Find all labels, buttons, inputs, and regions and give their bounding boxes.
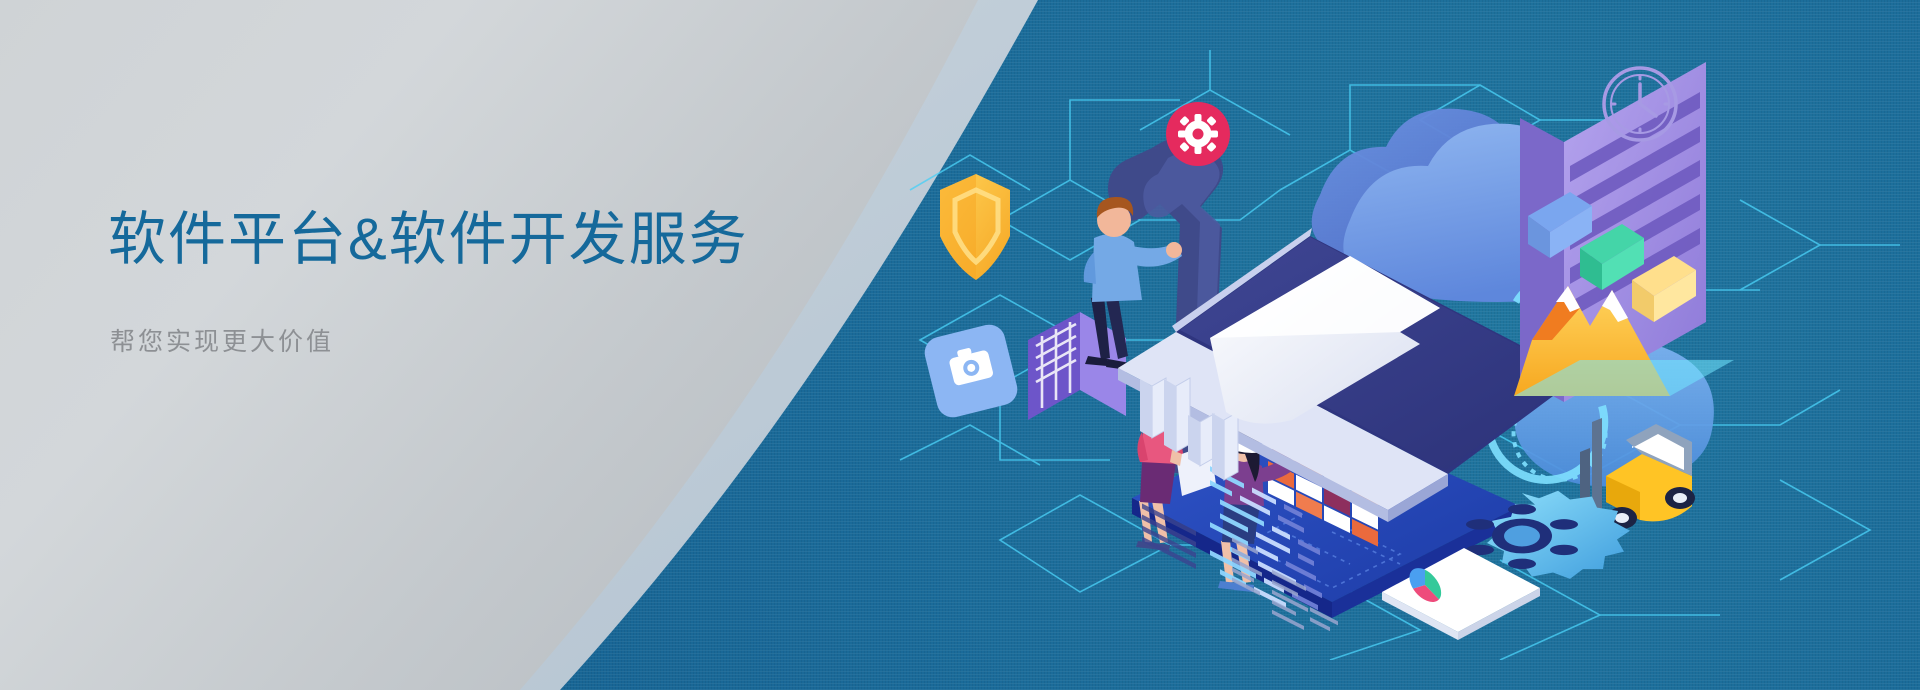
clock-icon xyxy=(1604,68,1676,140)
isometric-illustration xyxy=(880,40,1920,660)
hero-text-block: 软件平台&软件开发服务 帮您实现更大价值 xyxy=(108,206,828,358)
page-subtitle: 帮您实现更大价值 xyxy=(110,322,828,358)
hero-banner: 软件平台&软件开发服务 帮您实现更大价值 xyxy=(0,0,1920,690)
gear-badge-icon xyxy=(1166,102,1230,166)
page-title: 软件平台&软件开发服务 xyxy=(108,206,828,274)
security-shield-icon xyxy=(940,174,1010,280)
camera-card-icon xyxy=(921,321,1020,420)
